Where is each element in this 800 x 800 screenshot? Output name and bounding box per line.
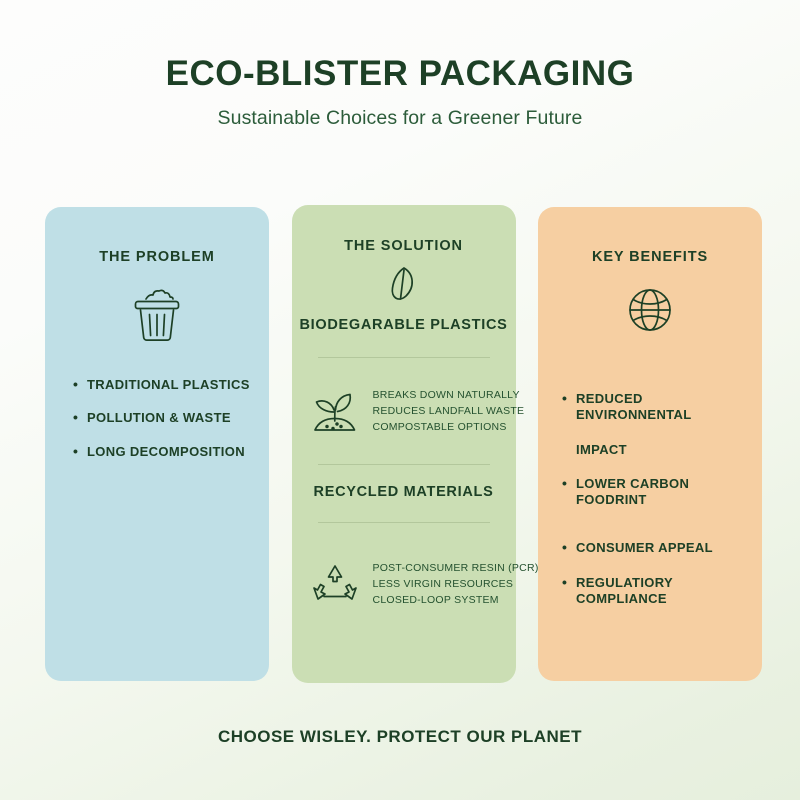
card-key-benefits: KEY BENEFITS REDUCED ENVIRONNENTAL IMPAC… (538, 207, 762, 681)
section-title-biodegradable: BIODEGARABLE PLASTICS (292, 316, 516, 335)
detail-line: COMPOSTABLE OPTIONS (373, 420, 525, 436)
footer-tagline: CHOOSE WISLEY. PROTECT OUR PLANET (0, 727, 800, 747)
detail-line: POST-CONSUMER RESIN (PCR) (373, 561, 539, 577)
list-item: CONSUMER APPEAL (560, 540, 762, 556)
detail-line: LESS VIRGIN RESOURCES (373, 577, 539, 593)
page-subtitle: Sustainable Choices for a Greener Future (0, 107, 800, 130)
list-item: POLLUTION & WASTE (71, 410, 269, 426)
globe-icon (538, 285, 762, 335)
list-item: REGULATIORY COMPLIANCE (560, 575, 762, 608)
list-item-continuation: IMPACT (560, 442, 762, 458)
problem-bullet-list: TRADITIONAL PLASTICS POLLUTION & WASTE L… (71, 377, 269, 460)
divider (318, 522, 490, 523)
detail-row-biodegradable: BREAKS DOWN NATURALLY REDUCES LANDFALL W… (292, 388, 516, 436)
divider (318, 464, 490, 465)
divider (318, 357, 490, 358)
list-item: LONG DECOMPOSITION (71, 444, 269, 460)
detail-line: BREAKS DOWN NATURALLY (373, 388, 525, 404)
detail-lines-recycled: POST-CONSUMER RESIN (PCR) LESS VIRGIN RE… (373, 561, 539, 608)
benefits-bullet-list: REDUCED ENVIRONNENTAL IMPACT LOWER CARBO… (560, 391, 762, 607)
list-item: LOWER CARBON FOODRINT (560, 476, 762, 509)
sprout-icon (310, 388, 360, 436)
section-title-text: BIODEGARABLE PLASTICS (299, 317, 507, 333)
card-heading-benefits: KEY BENEFITS (538, 207, 762, 265)
infographic-header: ECO-BLISTER PACKAGING Sustainable Choice… (0, 0, 800, 130)
list-item: REDUCED ENVIRONNENTAL (560, 391, 762, 424)
card-heading-problem: THE PROBLEM (45, 207, 269, 265)
detail-lines-biodegradable: BREAKS DOWN NATURALLY REDUCES LANDFALL W… (373, 388, 525, 435)
card-heading-solution: THE SOLUTION (292, 205, 516, 254)
card-row: THE PROBLEM TRADITIONAL PLASTICS POLLUTI… (45, 205, 762, 683)
page-title: ECO-BLISTER PACKAGING (0, 56, 800, 93)
card-the-problem: THE PROBLEM TRADITIONAL PLASTICS POLLUTI… (45, 207, 269, 681)
section-title-recycled: RECYCLED MATERIALS (292, 483, 516, 502)
detail-line: CLOSED-LOOP SYSTEM (373, 593, 539, 609)
recycle-icon (310, 561, 360, 609)
leaf-icon (292, 264, 516, 304)
section-title-text: RECYCLED MATERIALS (314, 484, 494, 500)
detail-line: REDUCES LANDFALL WASTE (373, 404, 525, 420)
detail-row-recycled: POST-CONSUMER RESIN (PCR) LESS VIRGIN RE… (292, 561, 516, 609)
card-the-solution: THE SOLUTION BIODEGARABLE PLASTICS (292, 205, 516, 683)
trash-can-icon (45, 285, 269, 343)
list-item: TRADITIONAL PLASTICS (71, 377, 269, 393)
